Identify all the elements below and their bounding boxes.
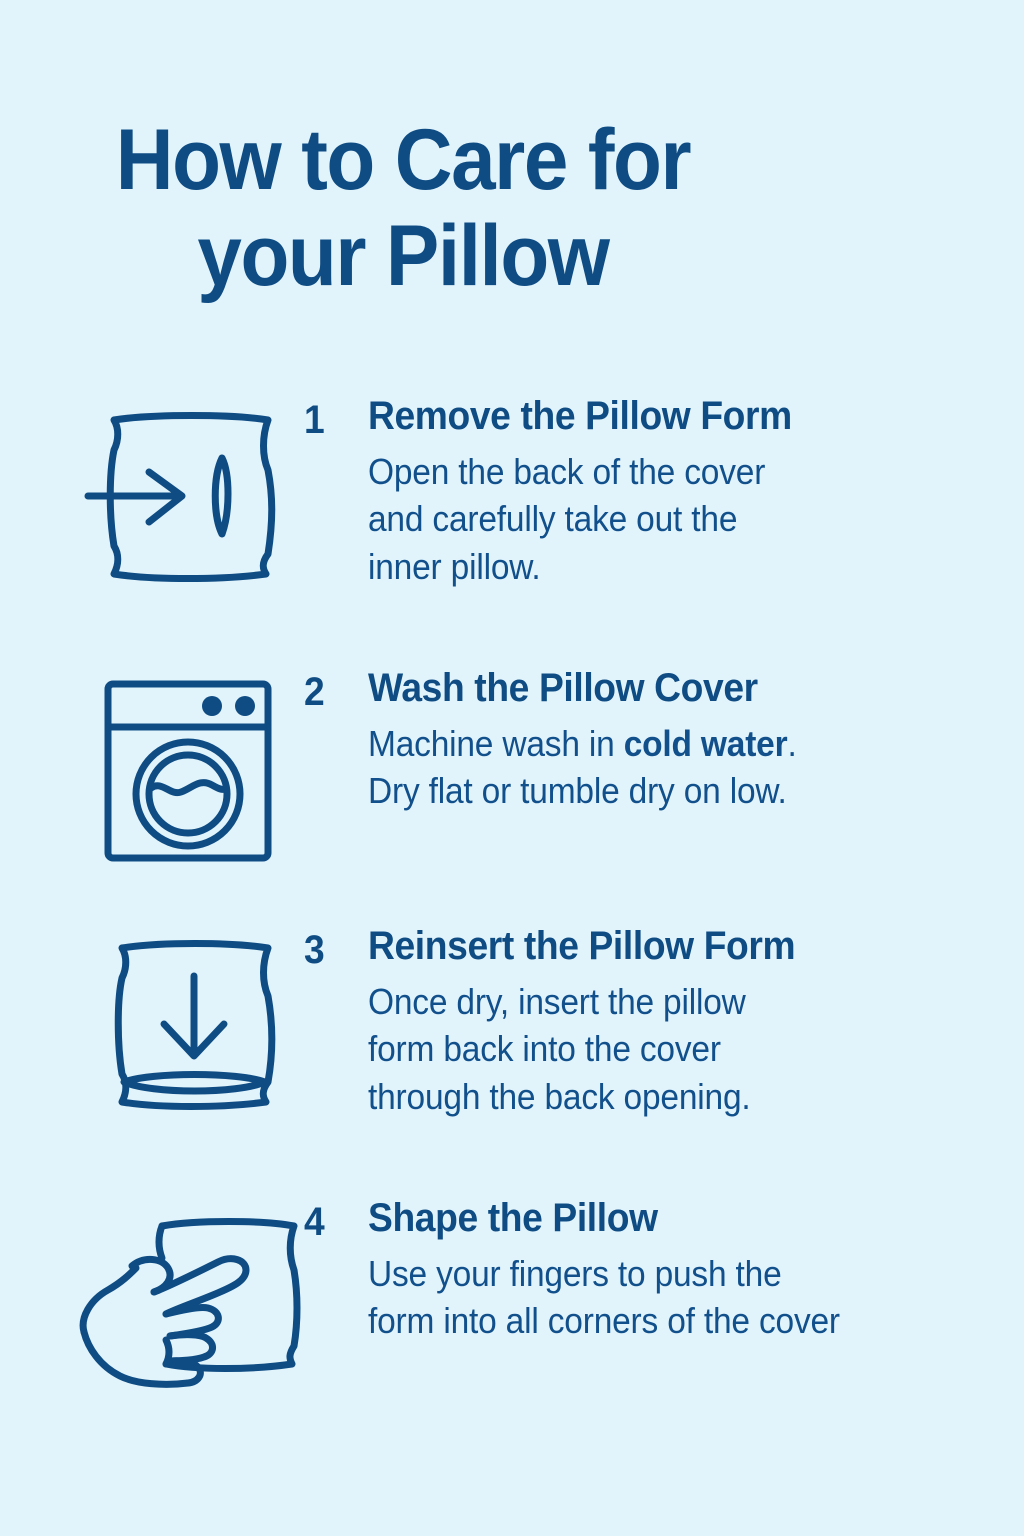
- step-2-text-cell: 2 Wash the Pillow Cover Machine wash in …: [304, 662, 1024, 815]
- step-3-number: 3: [304, 926, 339, 970]
- step-3-heading: Reinsert the Pillow Form: [368, 926, 978, 968]
- step-item-1: 1 Remove the Pillow Form Open the back o…: [0, 390, 1024, 662]
- step-3-icon-cell: [88, 920, 304, 1112]
- step-item-4: 4 Shape the Pillow Use your fingers to p…: [0, 1192, 1024, 1402]
- step-2-heading: Wash the Pillow Cover: [368, 668, 978, 710]
- pillow-care-infographic: How to Care for your Pillow 1 Remov: [0, 0, 1024, 1536]
- step-1-desc-line-1: Open the back of the cover: [368, 448, 978, 496]
- step-item-3: 3 Reinsert the Pillow Form Once dry, ins…: [0, 920, 1024, 1192]
- step-4-text-cell: 4 Shape the Pillow Use your fingers to p…: [304, 1192, 1024, 1345]
- step-3-body: Reinsert the Pillow Form Once dry, inser…: [342, 926, 1024, 1121]
- step-4-heading: Shape the Pillow: [368, 1198, 978, 1240]
- steps-list: 1 Remove the Pillow Form Open the back o…: [0, 390, 1024, 1402]
- step-1-text-cell: 1 Remove the Pillow Form Open the back o…: [304, 390, 1024, 591]
- step-4-desc-line-1: Use your fingers to push the: [368, 1250, 978, 1298]
- step-3-text-cell: 3 Reinsert the Pillow Form Once dry, ins…: [304, 920, 1024, 1121]
- page-title-line-1: How to Care for: [28, 112, 778, 208]
- step-2-desc-line-1: Machine wash in cold water.: [368, 720, 978, 768]
- step-1-icon-cell: [88, 390, 304, 584]
- step-3-desc-line-3: through the back opening.: [368, 1073, 978, 1121]
- step-2-icon-cell: [88, 662, 304, 864]
- step-4-number: 4: [304, 1198, 339, 1242]
- step-2-desc-prefix: Machine wash in: [368, 723, 624, 764]
- step-2-body: Wash the Pillow Cover Machine wash in co…: [342, 668, 1024, 815]
- pillow-with-arrow-in-icon: [92, 404, 288, 584]
- step-item-2: 2 Wash the Pillow Cover Machine wash in …: [0, 662, 1024, 920]
- washing-machine-icon: [102, 678, 274, 864]
- page-title: How to Care for your Pillow: [0, 112, 806, 305]
- step-4-icon-cell: [88, 1192, 304, 1384]
- step-1-number: 1: [304, 396, 339, 440]
- step-1-desc-line-2: and carefully take out the: [368, 495, 978, 543]
- page-title-line-2: your Pillow: [28, 208, 778, 304]
- step-1-body: Remove the Pillow Form Open the back of …: [342, 396, 1024, 591]
- step-3-description: Once dry, insert the pillow form back in…: [368, 978, 978, 1122]
- step-2-desc-line-2: Dry flat or tumble dry on low.: [368, 767, 978, 815]
- step-4-description: Use your fingers to push the form into a…: [368, 1250, 978, 1346]
- step-1-desc-line-3: inner pillow.: [368, 543, 978, 591]
- step-1-heading: Remove the Pillow Form: [368, 396, 978, 438]
- step-3-desc-line-1: Once dry, insert the pillow: [368, 978, 978, 1026]
- step-4-body: Shape the Pillow Use your fingers to pus…: [342, 1198, 1024, 1345]
- hand-shaping-pillow-icon: [66, 1214, 304, 1384]
- step-2-number: 2: [304, 668, 339, 712]
- step-2-desc-suffix: .: [787, 723, 796, 764]
- step-2-description: Machine wash in cold water. Dry flat or …: [368, 720, 978, 816]
- step-1-description: Open the back of the cover and carefully…: [368, 448, 978, 592]
- pillow-with-down-arrow-icon: [102, 934, 288, 1112]
- step-2-desc-emphasis: cold water: [624, 723, 788, 764]
- step-4-desc-line-2: form into all corners of the cover: [368, 1297, 978, 1345]
- step-3-desc-line-2: form back into the cover: [368, 1025, 978, 1073]
